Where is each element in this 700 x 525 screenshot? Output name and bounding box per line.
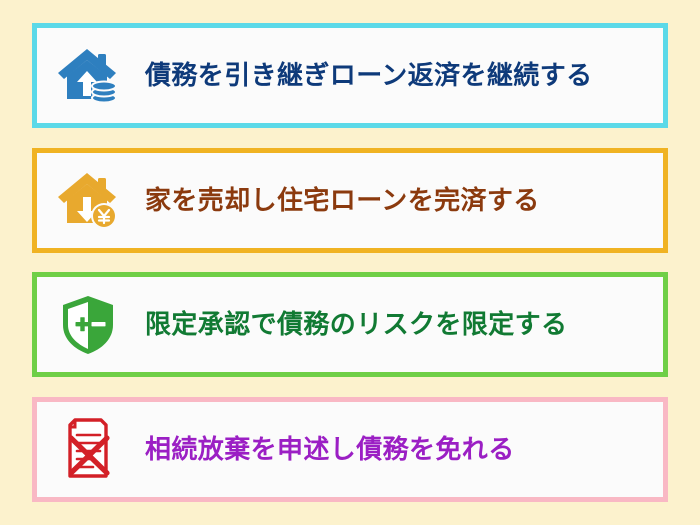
option-card-limited-approval-limit-risk[interactable]: 限定承認で債務のリスクを限定する [32,272,668,377]
house-up-arrow-coins-icon [43,28,133,123]
document-crossed-out-icon [43,402,133,497]
option-card-label: 家を売却し住宅ローンを完済する [133,185,540,216]
options-card-list: 債務を引き継ぎローン返済を継続する 家を売却し住宅ローン [0,0,700,525]
shield-plus-minus-icon [43,277,133,372]
option-card-sell-house-repay-mortgage[interactable]: 家を売却し住宅ローンを完済する [32,148,668,253]
option-card-label: 債務を引き継ぎローン返済を継続する [133,60,593,91]
option-card-label: 限定承認で債務のリスクを限定する [133,309,567,340]
option-card-renounce-inheritance-avoid-debt[interactable]: 相続放棄を申述し債務を免れる [32,397,668,502]
option-card-label: 相続放棄を申述し債務を免れる [133,434,515,465]
option-card-inherit-debt-continue-loan[interactable]: 債務を引き継ぎローン返済を継続する [32,23,668,128]
house-down-arrow-yen-icon [43,153,133,248]
